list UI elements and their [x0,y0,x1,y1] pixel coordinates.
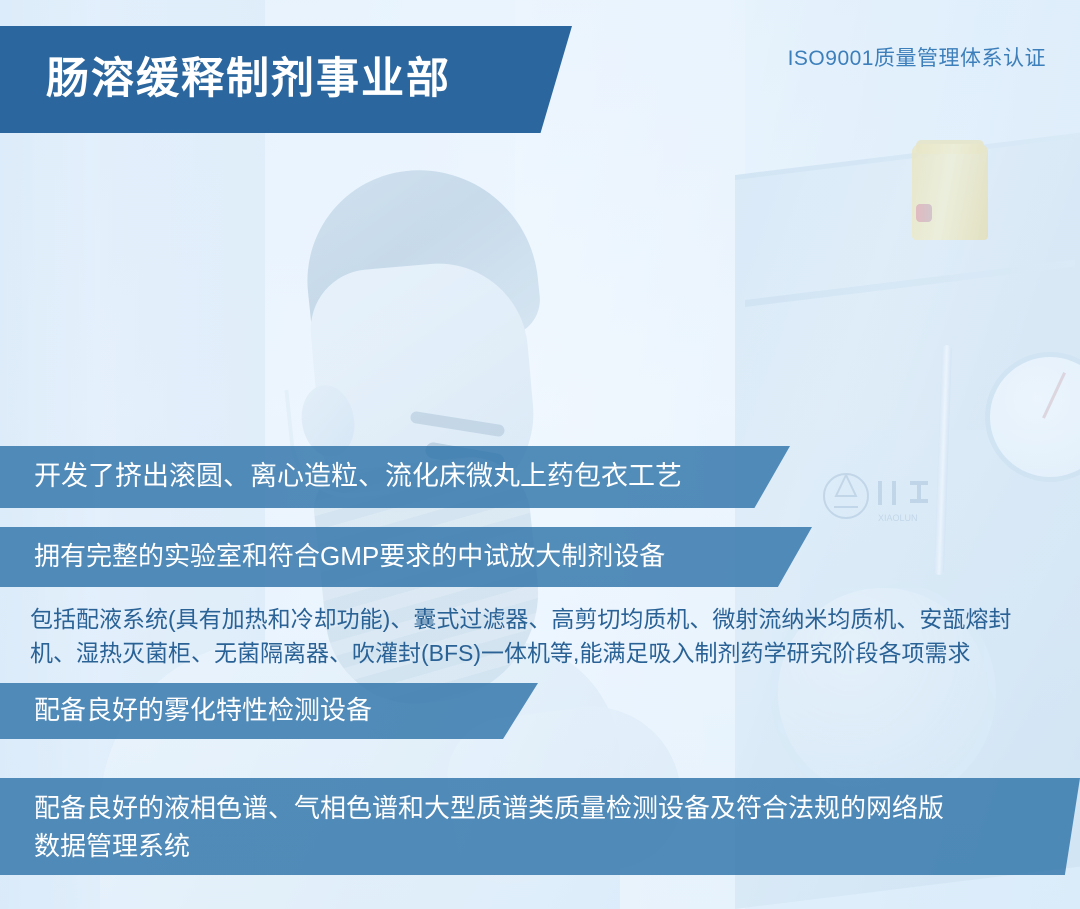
equipment-paragraph-line-1: 包括配液系统(具有加热和冷却功能)、囊式过滤器、高剪切均质机、微射流纳米均质机、… [30,602,1060,636]
feature-bar-gmp-lab: 拥有完整的实验室和符合GMP要求的中试放大制剂设备 [0,527,812,587]
feature-bar-atomization: 配备良好的雾化特性检测设备 [0,683,538,739]
iso-certification-label: ISO9001质量管理体系认证 [788,42,1046,72]
feature-bar-chromatography: 配备良好的液相色谱、气相色谱和大型质谱类质量检测设备及符合法规的网络版 数据管理… [0,778,1080,875]
feature-bar-chromatography-text: 配备良好的液相色谱、气相色谱和大型质谱类质量检测设备及符合法规的网络版 数据管理… [34,790,1024,865]
slide-root: XIAOLUN 肠溶缓释制剂事业部 ISO9001质量管理体系认证 开发了挤出滚… [0,0,1080,909]
feature-bar-gmp-lab-text: 拥有完整的实验室和符合GMP要求的中试放大制剂设备 [34,538,665,576]
feature-bar-chromatography-line-2: 数据管理系统 [34,828,1024,866]
page-title: 肠溶缓释制剂事业部 [46,58,451,101]
feature-bar-extrusion: 开发了挤出滚圆、离心造粒、流化床微丸上药包衣工艺 [0,446,790,508]
feature-bar-atomization-text: 配备良好的雾化特性检测设备 [34,692,372,730]
equipment-paragraph-line-2: 机、湿热灭菌柜、无菌隔离器、吹灌封(BFS)一体机等,能满足吸入制剂药学研究阶段… [30,636,1060,670]
feature-bar-chromatography-line-1: 配备良好的液相色谱、气相色谱和大型质谱类质量检测设备及符合法规的网络版 [34,790,1024,828]
feature-bar-extrusion-text: 开发了挤出滚圆、离心造粒、流化床微丸上药包衣工艺 [34,457,682,496]
header-banner: 肠溶缓释制剂事业部 [0,26,572,133]
equipment-paragraph: 包括配液系统(具有加热和冷却功能)、囊式过滤器、高剪切均质机、微射流纳米均质机、… [30,602,1060,670]
